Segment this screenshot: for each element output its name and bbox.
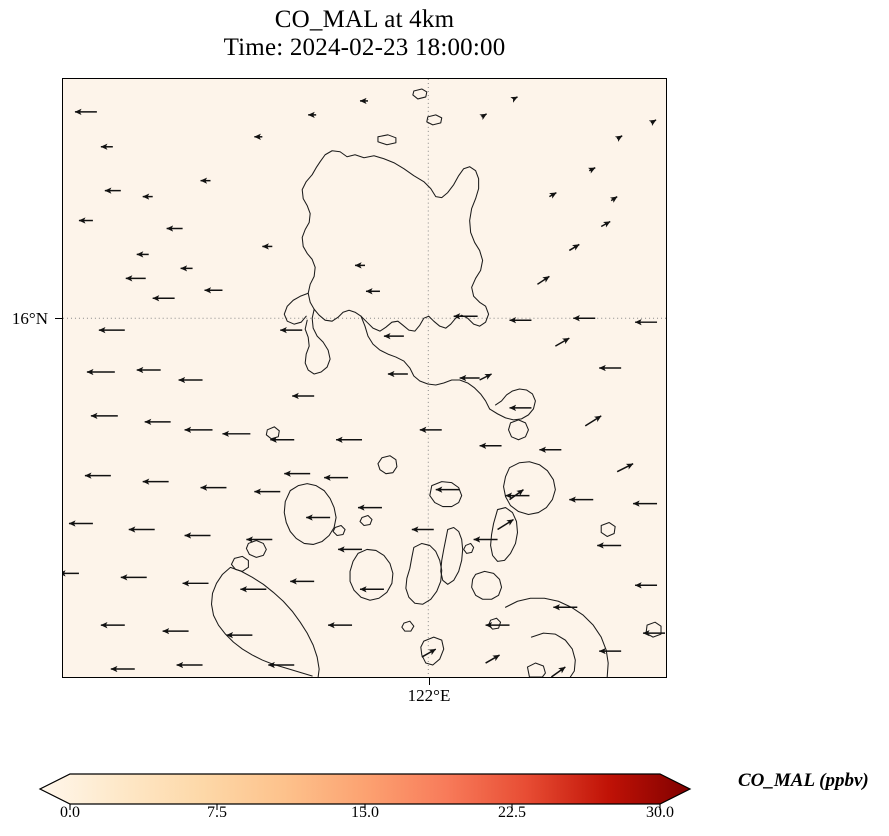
colorbar-tick-0: 0.0 bbox=[40, 804, 100, 822]
quiver-arrow bbox=[569, 244, 579, 250]
quiver-arrow bbox=[551, 667, 565, 677]
coastline-negros bbox=[406, 543, 442, 604]
colorbar-gradient-bar bbox=[40, 774, 690, 804]
coastline-islet-4 bbox=[402, 621, 414, 631]
coastline-islet-north-1 bbox=[378, 135, 396, 145]
quiver-arrow bbox=[480, 374, 492, 380]
quiver-arrow bbox=[549, 193, 556, 197]
coastline-lingayen bbox=[284, 293, 308, 324]
coastline-islet-3 bbox=[464, 543, 474, 553]
coastline-south-luzon bbox=[361, 316, 490, 409]
quiver-arrow bbox=[486, 655, 500, 663]
map-canvas bbox=[63, 79, 666, 677]
quiver-arrow bbox=[617, 464, 633, 472]
colorbar-tick-4: 30.0 bbox=[630, 804, 690, 822]
coastline-samar bbox=[504, 462, 556, 515]
coastline-islet-2 bbox=[360, 516, 372, 526]
quiver-arrow bbox=[601, 222, 610, 227]
coastline-palawan bbox=[212, 567, 320, 677]
colorbar-tick-1: 7.5 bbox=[187, 804, 247, 822]
coastline-islet-6 bbox=[266, 427, 279, 439]
coastlines bbox=[212, 89, 662, 677]
colorbar-tick-2: 15.0 bbox=[335, 804, 395, 822]
coastline-islet-10 bbox=[601, 523, 615, 537]
coastline-islet-8 bbox=[527, 663, 545, 677]
quiver-arrow bbox=[585, 416, 601, 426]
figure-title: CO_MAL at 4km Time: 2024-02-23 18:00:00 bbox=[0, 6, 729, 62]
coastline-leyte bbox=[491, 508, 518, 562]
coastline-islet-1 bbox=[333, 526, 345, 536]
coastline-islet-5 bbox=[489, 618, 501, 629]
coastline-islet-north-3 bbox=[413, 89, 427, 99]
title-line-time: Time: 2024-02-23 18:00:00 bbox=[0, 34, 729, 62]
quiver-arrow bbox=[514, 97, 518, 99]
coastline-bataan bbox=[305, 309, 330, 374]
coastline-bohol bbox=[472, 571, 502, 599]
quiver-arrow bbox=[537, 276, 549, 284]
coastline-marinduque bbox=[378, 456, 397, 474]
coastline-mindanao bbox=[506, 598, 609, 677]
wind-quiver-field bbox=[63, 97, 665, 677]
coastline-islet-north-2 bbox=[427, 115, 442, 125]
quiver-arrow bbox=[617, 136, 622, 139]
coastline-calamian bbox=[246, 540, 266, 557]
quiver-arrow bbox=[589, 168, 595, 171]
coastline-masbate bbox=[430, 482, 462, 507]
title-line-variable: CO_MAL at 4km bbox=[0, 6, 729, 34]
coastline-islet-9 bbox=[646, 622, 661, 637]
quiver-arrow bbox=[555, 338, 569, 346]
ytick-mark bbox=[55, 318, 62, 319]
coastline-catanduanes bbox=[509, 420, 529, 440]
coastline-mindanao-2 bbox=[531, 633, 575, 677]
gridlines bbox=[63, 79, 666, 677]
coastline-mindoro bbox=[284, 484, 336, 545]
coastline-panay bbox=[350, 549, 393, 600]
coastline-cebu bbox=[441, 528, 463, 585]
colorbar[interactable]: 0.0 7.5 15.0 22.5 30.0 CO_MAL (ppbv) bbox=[0, 760, 889, 836]
xtick-mark bbox=[429, 678, 430, 685]
coastline-luzon bbox=[302, 151, 488, 331]
quiver-arrow bbox=[611, 197, 617, 201]
quiver-arrow bbox=[422, 649, 436, 657]
coastline-bicol bbox=[490, 389, 536, 420]
quiver-arrow bbox=[651, 120, 656, 123]
colorbar-label: CO_MAL (ppbv) bbox=[738, 770, 869, 792]
quiver-arrow bbox=[498, 520, 514, 530]
xtick-label-122E: 122°E bbox=[379, 686, 479, 706]
map-plot-area[interactable] bbox=[62, 78, 667, 678]
ytick-label-16N: 16°N bbox=[2, 309, 48, 329]
colorbar-tick-3: 22.5 bbox=[482, 804, 542, 822]
quiver-arrow bbox=[510, 490, 524, 500]
quiver-arrow bbox=[482, 114, 487, 117]
